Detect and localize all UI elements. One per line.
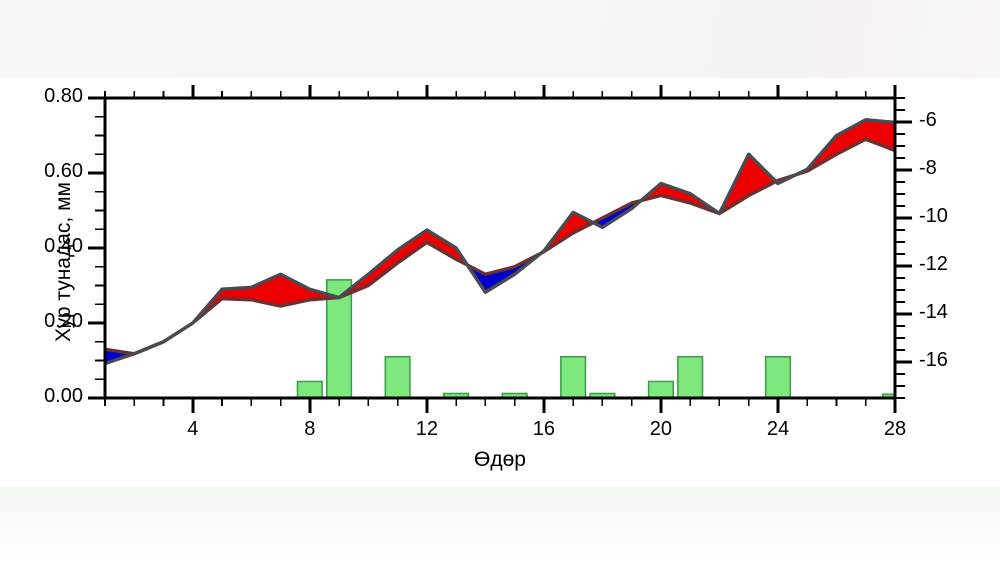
x-axis-tick-label: 28 <box>865 418 925 441</box>
precipitation-bar <box>561 357 586 398</box>
precipitation-temperature-chart: Хур тунадас, мм Агаарын температур, °C Ө… <box>0 0 1000 563</box>
y-axis-right-tick-label: -10 <box>919 205 979 228</box>
precipitation-bars-group <box>298 280 908 398</box>
x-axis-tick-label: 16 <box>514 418 574 441</box>
y-axis-right-tick-label: -16 <box>919 349 979 372</box>
temperature-difference-fill-group <box>105 120 895 364</box>
y-axis-left-tick-label: 0.60 <box>21 160 83 183</box>
precipitation-line <box>105 139 895 354</box>
temperature-line <box>105 120 895 364</box>
x-axis-tick-label: 4 <box>163 418 223 441</box>
x-axis-title: Өдөр <box>105 448 895 472</box>
precipitation-bar <box>298 382 323 399</box>
x-axis-tick-label: 8 <box>280 418 340 441</box>
y-axis-right-tick-label: -6 <box>919 109 979 132</box>
y-axis-left-tick-label: 0.40 <box>21 235 83 258</box>
precipitation-bar <box>678 357 703 398</box>
x-axis-tick-label: 20 <box>631 418 691 441</box>
precipitation-bar <box>649 382 674 399</box>
y-axis-right-tick-label: -12 <box>919 253 979 276</box>
y-axis-left-title: Хур тунадас, мм <box>52 102 76 422</box>
series-lines-group <box>105 120 895 364</box>
y-axis-left-tick-label: 0.80 <box>21 85 83 108</box>
y-axis-right-tick-label: -14 <box>919 301 979 324</box>
x-axis-tick-label: 12 <box>397 418 457 441</box>
x-axis-tick-label: 24 <box>748 418 808 441</box>
y-axis-left-tick-label: 0.00 <box>21 385 83 408</box>
precipitation-bar <box>766 357 791 398</box>
y-axis-right-tick-label: -8 <box>919 157 979 180</box>
chart-plot-svg <box>0 0 1000 563</box>
y-axis-left-tick-label: 0.20 <box>21 310 83 333</box>
precipitation-bar <box>385 357 410 398</box>
